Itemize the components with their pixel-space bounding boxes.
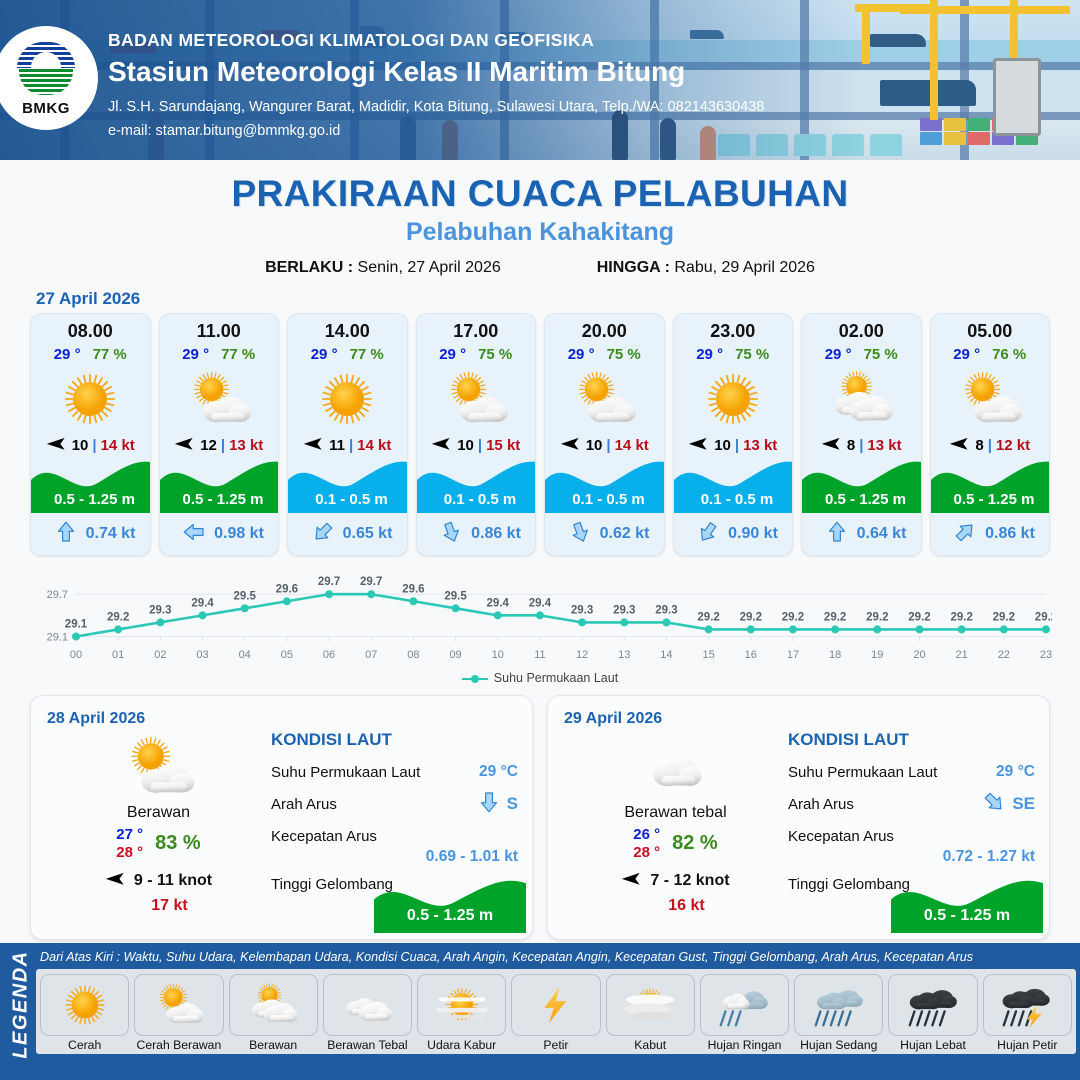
svg-text:29.2: 29.2 xyxy=(1035,611,1052,623)
card-wind-speed: 10 xyxy=(72,437,89,454)
card-gust: 15 kt xyxy=(486,437,520,454)
card-humidity: 75 % xyxy=(735,346,769,363)
legend-item-label: Hujan Sedang xyxy=(794,1038,883,1052)
svg-text:29.2: 29.2 xyxy=(908,611,930,623)
card-humidity: 77 % xyxy=(93,346,127,363)
svg-text:03: 03 xyxy=(196,649,208,661)
panel-wind-direction-icon xyxy=(105,870,127,892)
header-text-block: BADAN METEOROLOGI KLIMATOLOGI DAN GEOFIS… xyxy=(108,30,764,143)
legend-label: Suhu Permukaan Laut xyxy=(494,671,618,685)
wind-direction-arrow xyxy=(431,437,453,451)
sst-label: Suhu Permukaan Laut xyxy=(271,764,420,781)
panel-current-direction-icon xyxy=(477,790,501,819)
panel-summary: Berawan tebal 26 ° 28 ° 82 % 7 - 12 knot… xyxy=(568,736,783,915)
svg-text:29.5: 29.5 xyxy=(444,590,467,602)
card-gust: 14 kt xyxy=(357,437,391,454)
svg-text:04: 04 xyxy=(239,649,251,661)
sst-value: 29 °C xyxy=(996,763,1035,781)
forecast-card[interactable]: 23.00 29 ° 75 % 10 | 13 kt 0.1 - 0.5 m 0… xyxy=(673,313,794,556)
card-time: 11.00 xyxy=(160,314,279,342)
current-direction-icon xyxy=(54,520,78,549)
current-speed-value: 0.72 - 1.27 kt xyxy=(788,848,1035,866)
agency-name: BADAN METEOROLOGI KLIMATOLOGI DAN GEOFIS… xyxy=(108,30,764,51)
svg-text:08: 08 xyxy=(407,649,419,661)
card-time: 05.00 xyxy=(931,314,1050,342)
valid-from-label: BERLAKU : xyxy=(265,259,353,276)
valid-until-label: HINGGA : xyxy=(597,259,670,276)
legend-item: Berawan Tebal xyxy=(323,974,412,1052)
wind-direction-arrow xyxy=(821,437,843,451)
current-direction-icon xyxy=(439,520,463,549)
card-current-speed: 0.65 kt xyxy=(343,525,393,543)
card-gust: 14 kt xyxy=(101,437,135,454)
legend-icon-lightning xyxy=(511,974,600,1036)
panel-wind-range: 9 - 11 knot xyxy=(134,872,212,890)
panel-summary: Berawan 27 ° 28 ° 83 % 9 - 11 knot 17 kt xyxy=(51,736,266,915)
panel-wind-range: 7 - 12 knot xyxy=(650,872,729,890)
svg-text:05: 05 xyxy=(281,649,293,661)
svg-text:00: 00 xyxy=(70,649,82,661)
card-temperature: 29 ° xyxy=(54,346,81,363)
panel-temp-max: 28 ° xyxy=(116,844,143,861)
legend-icon-sun-cloud xyxy=(134,974,223,1036)
sst-value: 29 °C xyxy=(479,763,518,781)
current-direction-label: Arah Arus xyxy=(788,796,854,813)
card-wind: 12 | 13 kt xyxy=(160,436,279,455)
card-temperature: 29 ° xyxy=(568,346,595,363)
forecast-card[interactable]: 05.00 29 ° 76 % 8 | 12 kt 0.5 - 1.25 m 0… xyxy=(930,313,1051,556)
card-weather-icon xyxy=(31,365,150,433)
panel-condition: Berawan tebal xyxy=(568,804,783,822)
svg-text:10: 10 xyxy=(492,649,504,661)
card-current: 0.74 kt xyxy=(31,513,151,555)
card-time: 17.00 xyxy=(417,314,536,342)
card-humidity: 76 % xyxy=(992,346,1026,363)
panel-temp-max: 28 ° xyxy=(633,844,660,861)
card-wind-speed: 10 xyxy=(586,437,603,454)
card-separator: | xyxy=(221,437,225,454)
wind-direction-arrow xyxy=(949,437,971,451)
panel-weather-icon xyxy=(51,736,266,798)
svg-text:14: 14 xyxy=(660,649,672,661)
svg-text:29.2: 29.2 xyxy=(993,611,1015,623)
card-wind-speed: 11 xyxy=(329,437,345,454)
card-weather-icon xyxy=(545,365,664,433)
card-temperature: 29 ° xyxy=(439,346,466,363)
panel-wind: 7 - 12 knot xyxy=(568,870,783,892)
panel-temp-min: 27 ° xyxy=(116,826,143,843)
card-current: 0.90 kt xyxy=(674,513,794,555)
forecast-card[interactable]: 14.00 29 ° 77 % 11 | 14 kt 0.1 - 0.5 m 0… xyxy=(287,313,408,556)
legend-item-label: Cerah Berawan xyxy=(134,1038,223,1052)
legend-item: Udara Kabur xyxy=(417,974,506,1052)
panel-temp-min: 26 ° xyxy=(633,826,660,843)
card-humidity: 75 % xyxy=(864,346,898,363)
legend-item: Kabut xyxy=(606,974,695,1052)
legend-item-label: Berawan xyxy=(229,1038,318,1052)
page-header: BMKG BADAN METEOROLOGI KLIMATOLOGI DAN G… xyxy=(0,0,1080,160)
svg-text:09: 09 xyxy=(449,649,461,661)
card-gust: 13 kt xyxy=(867,437,901,454)
svg-text:29.3: 29.3 xyxy=(655,604,677,616)
card-separator: | xyxy=(859,437,863,454)
current-direction-value: SE xyxy=(982,790,1035,819)
svg-text:23: 23 xyxy=(1040,649,1052,661)
card-gust: 14 kt xyxy=(615,437,649,454)
svg-text:06: 06 xyxy=(323,649,335,661)
valid-from-value: Senin, 27 April 2026 xyxy=(358,259,501,276)
svg-text:12: 12 xyxy=(576,649,588,661)
panel-humidity: 82 % xyxy=(672,832,718,855)
card-current-speed: 0.86 kt xyxy=(985,525,1035,543)
card-current-speed: 0.98 kt xyxy=(214,525,264,543)
sst-chart: 29.729.100010203040506070809101112131415… xyxy=(28,568,1052,668)
svg-text:29.2: 29.2 xyxy=(782,611,804,623)
panel-current-direction-icon xyxy=(982,790,1006,819)
card-humidity: 77 % xyxy=(350,346,384,363)
legend-item: Petir xyxy=(511,974,600,1052)
wind-direction-icon xyxy=(303,436,325,455)
svg-text:17: 17 xyxy=(787,649,799,661)
svg-text:01: 01 xyxy=(112,649,124,661)
legend-icon-cloudy xyxy=(229,974,318,1036)
current-direction-icon xyxy=(696,520,720,549)
card-weather-icon xyxy=(674,365,793,433)
legend-icon-sun xyxy=(40,974,129,1036)
forecast-card[interactable]: 17.00 29 ° 75 % 10 | 15 kt 0.1 - 0.5 m 0… xyxy=(416,313,537,556)
wind-direction-icon xyxy=(46,436,68,455)
sea-conditions-title: KONDISI LAUT xyxy=(271,730,518,750)
current-direction-icon xyxy=(953,520,977,549)
panel-weather-icon xyxy=(568,736,783,798)
card-current: 0.64 kt xyxy=(802,513,922,555)
svg-text:29.4: 29.4 xyxy=(529,597,552,609)
card-weather-icon xyxy=(160,365,279,433)
card-wind: 10 | 13 kt xyxy=(674,436,793,455)
current-direction-icon xyxy=(311,520,335,549)
card-weather-icon xyxy=(931,365,1050,433)
svg-text:29.4: 29.4 xyxy=(191,597,214,609)
svg-text:29.2: 29.2 xyxy=(950,611,972,623)
svg-text:13: 13 xyxy=(618,649,630,661)
card-separator: | xyxy=(92,437,96,454)
wind-direction-arrow xyxy=(46,437,68,451)
card-wave-height: 0.1 - 0.5 m xyxy=(288,491,408,508)
sst-chart-legend: Suhu Permukaan Laut xyxy=(0,671,1080,685)
svg-text:11: 11 xyxy=(534,649,545,661)
card-humidity: 75 % xyxy=(607,346,641,363)
card-wave-height: 0.1 - 0.5 m xyxy=(545,491,665,508)
wind-direction-arrow xyxy=(105,872,127,886)
sea-conditions-title: KONDISI LAUT xyxy=(788,730,1035,750)
forecast-card[interactable]: 11.00 29 ° 77 % 12 | 13 kt 0.5 - 1.25 m … xyxy=(159,313,280,556)
hourly-forecast-row: 08.00 29 ° 77 % 10 | 14 kt 0.5 - 1.25 m … xyxy=(0,313,1080,556)
current-direction-icon xyxy=(825,520,849,549)
card-temperature: 29 ° xyxy=(182,346,209,363)
svg-text:29.2: 29.2 xyxy=(824,611,846,623)
card-temperature: 29 ° xyxy=(311,346,338,363)
legend-icon-light-rain xyxy=(700,974,789,1036)
card-wind-speed: 10 xyxy=(714,437,731,454)
valid-until-value: Rabu, 29 April 2026 xyxy=(674,259,815,276)
daily-forecast-panel[interactable]: 29 April 2026 Berawan tebal 26 ° 28 ° 82… xyxy=(547,695,1050,940)
svg-text:29.6: 29.6 xyxy=(276,583,298,595)
forecast-card[interactable]: 20.00 29 ° 75 % 10 | 14 kt 0.1 - 0.5 m 0… xyxy=(544,313,665,556)
card-wave-height: 0.5 - 1.25 m xyxy=(31,491,151,508)
legend-bar: LEGENDA Dari Atas Kiri : Waktu, Suhu Uda… xyxy=(0,943,1080,1080)
panel-humidity: 83 % xyxy=(155,832,201,855)
current-direction-value: S xyxy=(477,790,518,819)
svg-text:20: 20 xyxy=(913,649,925,661)
card-separator: | xyxy=(606,437,610,454)
card-wave-height: 0.5 - 1.25 m xyxy=(802,491,922,508)
legend-item: Hujan Petir xyxy=(983,974,1072,1052)
station-email: e-mail: stamar.bitung@bmmkg.go.id xyxy=(108,121,764,143)
svg-text:19: 19 xyxy=(871,649,883,661)
sst-chart-svg: 29.729.100010203040506070809101112131415… xyxy=(28,568,1052,666)
current-direction-icon xyxy=(182,520,206,549)
card-wind-speed: 8 xyxy=(847,437,855,454)
card-time: 20.00 xyxy=(545,314,664,342)
card-humidity: 77 % xyxy=(221,346,255,363)
card-weather-icon xyxy=(802,365,921,433)
card-current: 0.98 kt xyxy=(160,513,280,555)
wind-direction-icon xyxy=(821,436,843,455)
card-temperature: 29 ° xyxy=(953,346,980,363)
card-wind-speed: 12 xyxy=(200,437,217,454)
panel-date: 29 April 2026 xyxy=(564,710,1033,728)
card-current: 0.65 kt xyxy=(288,513,408,555)
legend-item-label: Hujan Petir xyxy=(983,1038,1072,1052)
legend-item-label: Hujan Ringan xyxy=(700,1038,789,1052)
bmkg-logo-text: BMKG xyxy=(22,100,70,117)
panel-wave-height: 0.5 - 1.25 m xyxy=(374,907,526,925)
svg-text:18: 18 xyxy=(829,649,841,661)
page-subtitle: Pelabuhan Kahakitang xyxy=(0,218,1080,247)
card-wave-height: 0.5 - 1.25 m xyxy=(931,491,1051,508)
legend-items: Cerah Cerah Berawan Berawan Berawan Teba… xyxy=(36,969,1076,1054)
card-wind: 8 | 12 kt xyxy=(931,436,1050,455)
card-wave-height: 0.1 - 0.5 m xyxy=(417,491,537,508)
legend-item-label: Berawan Tebal xyxy=(323,1038,412,1052)
current-speed-value: 0.69 - 1.01 kt xyxy=(271,848,518,866)
svg-text:29.1: 29.1 xyxy=(47,631,68,643)
sst-label: Suhu Permukaan Laut xyxy=(788,764,937,781)
current-direction-icon xyxy=(568,520,592,549)
card-gust: 13 kt xyxy=(229,437,263,454)
svg-text:29.4: 29.4 xyxy=(487,597,510,609)
legend-note: Dari Atas Kiri : Waktu, Suhu Udara, Kele… xyxy=(36,943,1076,969)
card-wind: 10 | 14 kt xyxy=(31,436,150,455)
wind-direction-arrow xyxy=(303,437,325,451)
legend-item-label: Cerah xyxy=(40,1038,129,1052)
card-wind: 10 | 14 kt xyxy=(545,436,664,455)
svg-text:29.3: 29.3 xyxy=(571,604,593,616)
legend-item: Berawan xyxy=(229,974,318,1052)
svg-text:29.2: 29.2 xyxy=(740,611,762,623)
svg-text:29.7: 29.7 xyxy=(47,589,68,601)
panel-gust: 17 kt xyxy=(51,897,266,915)
card-wind-speed: 10 xyxy=(457,437,474,454)
validity-range: BERLAKU : Senin, 27 April 2026 HINGGA : … xyxy=(0,259,1080,277)
card-wind-speed: 8 xyxy=(975,437,983,454)
card-current: 0.86 kt xyxy=(931,513,1051,555)
panel-wind: 9 - 11 knot xyxy=(51,870,266,892)
panel-gust: 16 kt xyxy=(568,897,783,915)
svg-text:29.2: 29.2 xyxy=(697,611,719,623)
card-separator: | xyxy=(735,437,739,454)
legend-side-title: LEGENDA xyxy=(0,943,36,1080)
svg-text:29.1: 29.1 xyxy=(65,618,88,630)
card-time: 14.00 xyxy=(288,314,407,342)
card-wave-height: 0.1 - 0.5 m xyxy=(674,491,794,508)
svg-text:07: 07 xyxy=(365,649,377,661)
card-temperature: 29 ° xyxy=(825,346,852,363)
card-separator: | xyxy=(349,437,353,454)
wind-direction-icon xyxy=(560,436,582,455)
wind-direction-arrow xyxy=(560,437,582,451)
svg-text:29.5: 29.5 xyxy=(234,590,257,602)
wind-direction-arrow xyxy=(621,872,643,886)
legend-icon-fog xyxy=(606,974,695,1036)
valid-from: BERLAKU : Senin, 27 April 2026 xyxy=(265,259,501,277)
legend-icon-moderate-rain xyxy=(794,974,883,1036)
panel-wind-direction-icon xyxy=(621,870,643,892)
svg-text:16: 16 xyxy=(745,649,757,661)
card-wave-height: 0.5 - 1.25 m xyxy=(160,491,280,508)
svg-text:22: 22 xyxy=(998,649,1010,661)
title-block: PRAKIRAAN CUACA PELABUHAN Pelabuhan Kaha… xyxy=(0,160,1080,277)
card-wind: 11 | 14 kt xyxy=(288,436,407,455)
legend-line-marker xyxy=(462,674,488,684)
current-speed-label: Kecepatan Arus xyxy=(271,828,377,845)
forecast-card[interactable]: 02.00 29 ° 75 % 8 | 13 kt 0.5 - 1.25 m 0… xyxy=(801,313,922,556)
card-current-speed: 0.86 kt xyxy=(471,525,521,543)
legend-item: Hujan Sedang xyxy=(794,974,883,1052)
card-weather-icon xyxy=(288,365,407,433)
legend-icon-cloud-thick xyxy=(323,974,412,1036)
svg-text:29.2: 29.2 xyxy=(107,611,129,623)
card-temperature: 29 ° xyxy=(696,346,723,363)
legend-item: Hujan Ringan xyxy=(700,974,789,1052)
card-wind: 10 | 15 kt xyxy=(417,436,536,455)
svg-text:29.2: 29.2 xyxy=(866,611,888,623)
svg-text:29.7: 29.7 xyxy=(318,576,340,588)
card-current-speed: 0.90 kt xyxy=(728,525,778,543)
legend-item-label: Petir xyxy=(511,1038,600,1052)
legend-item-label: Hujan Lebat xyxy=(888,1038,977,1052)
station-address: Jl. S.H. Sarundajang, Wangurer Barat, Ma… xyxy=(108,97,764,119)
valid-until: HINGGA : Rabu, 29 April 2026 xyxy=(597,259,815,277)
legend-item-label: Kabut xyxy=(606,1038,695,1052)
card-gust: 12 kt xyxy=(996,437,1030,454)
daily-forecast-panels: 28 April 2026 Berawan 27 ° 28 ° 83 % 9 -… xyxy=(0,685,1080,940)
forecast-day-label: 27 April 2026 xyxy=(36,289,1080,309)
legend-icon-heavy-rain xyxy=(888,974,977,1036)
bmkg-logo-mark xyxy=(17,40,75,98)
svg-text:29.7: 29.7 xyxy=(360,576,382,588)
legend-item: Hujan Lebat xyxy=(888,974,977,1052)
svg-text:02: 02 xyxy=(154,649,166,661)
station-name: Stasiun Meteorologi Kelas II Maritim Bit… xyxy=(108,56,764,88)
card-time: 23.00 xyxy=(674,314,793,342)
card-weather-icon xyxy=(417,365,536,433)
panel-wave-height: 0.5 - 1.25 m xyxy=(891,907,1043,925)
card-current: 0.62 kt xyxy=(545,513,665,555)
wind-direction-icon xyxy=(431,436,453,455)
wind-direction-arrow xyxy=(174,437,196,451)
legend-item-label: Udara Kabur xyxy=(417,1038,506,1052)
wind-direction-icon xyxy=(174,436,196,455)
svg-text:29.6: 29.6 xyxy=(402,583,424,595)
panel-date: 28 April 2026 xyxy=(47,710,516,728)
daily-forecast-panel[interactable]: 28 April 2026 Berawan 27 ° 28 ° 83 % 9 -… xyxy=(30,695,533,940)
wind-direction-arrow xyxy=(688,437,710,451)
card-separator: | xyxy=(988,437,992,454)
card-separator: | xyxy=(478,437,482,454)
card-humidity: 75 % xyxy=(478,346,512,363)
card-time: 08.00 xyxy=(31,314,150,342)
svg-text:29.3: 29.3 xyxy=(613,604,635,616)
wind-direction-icon xyxy=(949,436,971,455)
svg-text:15: 15 xyxy=(702,649,714,661)
card-time: 02.00 xyxy=(802,314,921,342)
card-gust: 13 kt xyxy=(743,437,777,454)
svg-text:21: 21 xyxy=(956,649,968,661)
card-current-speed: 0.62 kt xyxy=(600,525,650,543)
forecast-card[interactable]: 08.00 29 ° 77 % 10 | 14 kt 0.5 - 1.25 m … xyxy=(30,313,151,556)
current-speed-label: Kecepatan Arus xyxy=(788,828,894,845)
legend-icon-haze xyxy=(417,974,506,1036)
card-wind: 8 | 13 kt xyxy=(802,436,921,455)
card-current-speed: 0.74 kt xyxy=(86,525,136,543)
legend-item: Cerah xyxy=(40,974,129,1052)
legend-item: Cerah Berawan xyxy=(134,974,223,1052)
current-direction-label: Arah Arus xyxy=(271,796,337,813)
page-title: PRAKIRAAN CUACA PELABUHAN xyxy=(0,173,1080,215)
legend-icon-thunderstorm xyxy=(983,974,1072,1036)
card-current-speed: 0.64 kt xyxy=(857,525,907,543)
svg-text:29.3: 29.3 xyxy=(149,604,171,616)
panel-condition: Berawan xyxy=(51,804,266,822)
card-current: 0.86 kt xyxy=(417,513,537,555)
wind-direction-icon xyxy=(688,436,710,455)
